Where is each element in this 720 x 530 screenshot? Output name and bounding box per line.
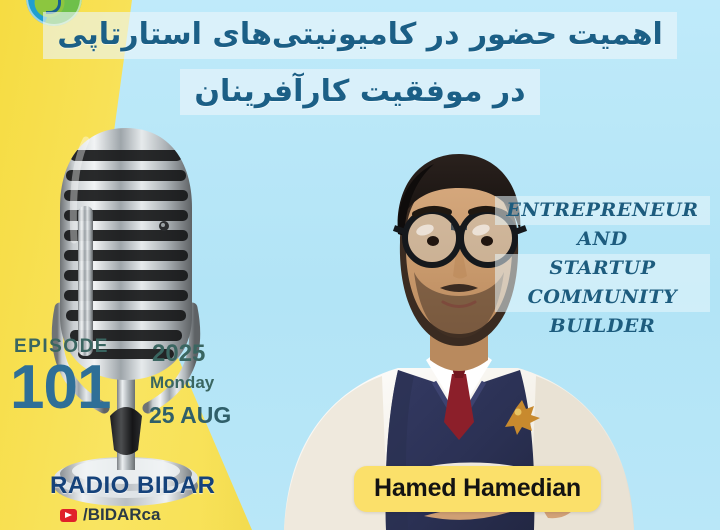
guest-tagline: ENTREPRENEUR AND STARTUP COMMUNITY BUILD… <box>495 196 710 340</box>
youtube-icon <box>60 509 77 522</box>
tagline-line-1: ENTREPRENEUR <box>495 196 710 225</box>
tagline-line-4: COMMUNITY <box>495 283 710 312</box>
retro-microphone-icon <box>34 120 219 520</box>
date-year: 2025 <box>152 340 205 368</box>
podcast-episode-poster: اهمیت حضور در کامیونیتی‌های استارتاپی در… <box>0 0 720 530</box>
guest-name-badge: Hamed Hamedian <box>354 466 601 512</box>
radio-bidar-wordmark: RADIO BIDAR <box>50 472 216 500</box>
episode-title-line-1: اهمیت حضور در کامیونیتی‌های استارتاپی <box>43 12 677 59</box>
social-handle-text: /BIDARca <box>83 505 160 525</box>
tagline-line-5: BUILDER <box>495 312 710 341</box>
date-weekday: Monday <box>150 373 214 393</box>
social-handle[interactable]: /BIDARca <box>60 505 160 525</box>
episode-title-line-2: در موفقیت کارآفرینان <box>180 69 539 116</box>
tagline-line-2: AND <box>495 225 710 254</box>
guest-name: Hamed Hamedian <box>374 474 581 502</box>
tagline-line-3: STARTUP <box>495 254 710 283</box>
episode-title: اهمیت حضور در کامیونیتی‌های استارتاپی در… <box>0 12 720 115</box>
episode-number: 101 <box>10 357 110 419</box>
date-day-month: 25 AUG <box>149 402 231 429</box>
